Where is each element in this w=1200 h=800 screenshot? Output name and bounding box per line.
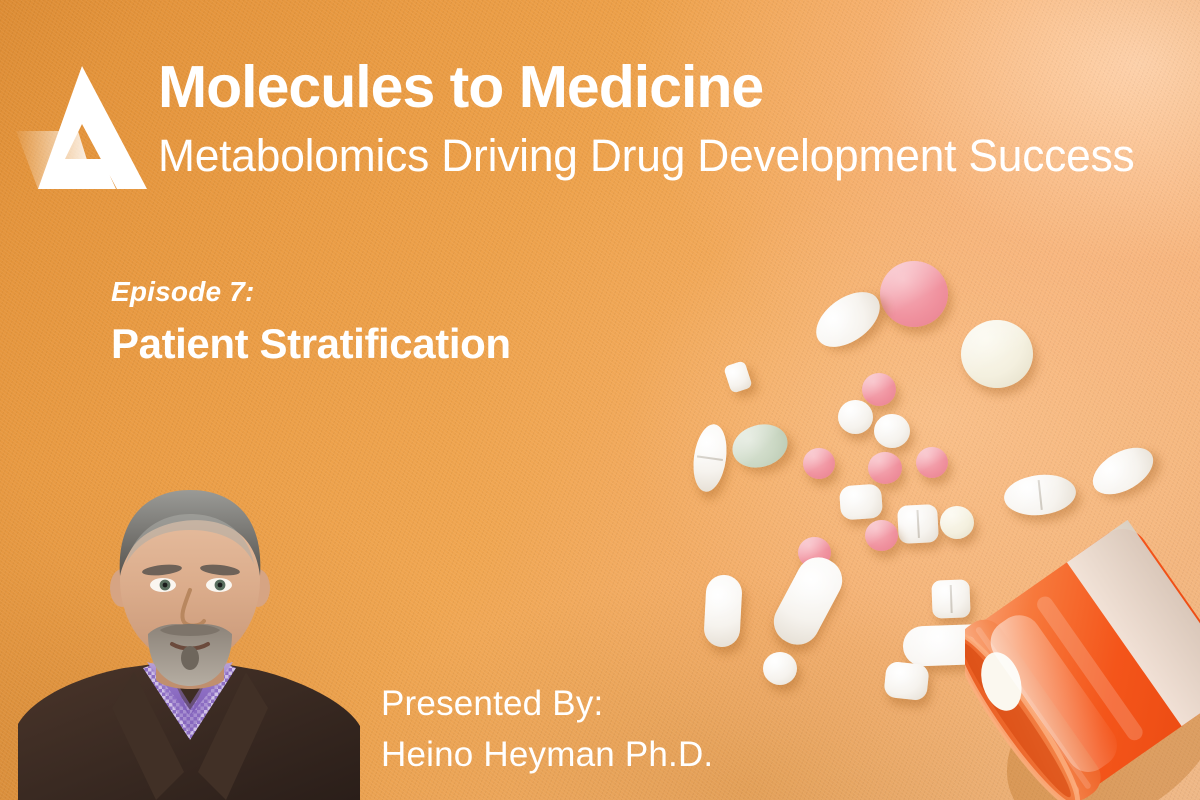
pill-white-square-scored xyxy=(897,504,939,544)
pill-white-oval xyxy=(806,281,890,358)
pill-white-round-small xyxy=(763,652,797,685)
pill-white-capsule xyxy=(703,574,743,648)
presenter-headshot xyxy=(8,472,370,800)
pill-white-square xyxy=(839,484,883,521)
presented-by-label: Presented By: xyxy=(381,684,603,724)
pill-white-round xyxy=(838,400,873,434)
episode-title: Patient Stratification xyxy=(111,320,511,368)
pill-white-round xyxy=(874,414,910,448)
pill-pink-small xyxy=(868,452,902,484)
pill-white-oval-scored xyxy=(1002,471,1078,518)
chevron-a-logo-icon xyxy=(16,62,148,190)
page-title: Molecules to Medicine xyxy=(158,58,763,117)
page-subtitle: Metabolomics Driving Drug Development Su… xyxy=(158,133,1135,178)
pill-white-oval xyxy=(1085,438,1161,504)
pill-pink-small xyxy=(916,447,948,478)
episode-number: Episode 7: xyxy=(111,276,255,308)
presenter-name: Heino Heyman Ph.D. xyxy=(381,735,713,775)
header: Molecules to Medicine Metabolomics Drivi… xyxy=(0,0,1200,200)
pill-white-caplet xyxy=(766,550,850,653)
pill-pink-round xyxy=(880,261,948,327)
pill-white-edge xyxy=(723,360,753,393)
pill-green-oval xyxy=(727,418,792,474)
pill-white-capsule-oval xyxy=(689,422,730,494)
podcast-title-slide: Molecules to Medicine Metabolomics Drivi… xyxy=(0,0,1200,800)
pill-bottle xyxy=(965,520,1200,800)
pill-pink-small xyxy=(803,448,835,479)
pill-cream-disc xyxy=(961,320,1033,388)
pill-white-square xyxy=(883,661,930,701)
pill-pink-small xyxy=(865,520,898,551)
pill-pink-small xyxy=(862,373,896,406)
